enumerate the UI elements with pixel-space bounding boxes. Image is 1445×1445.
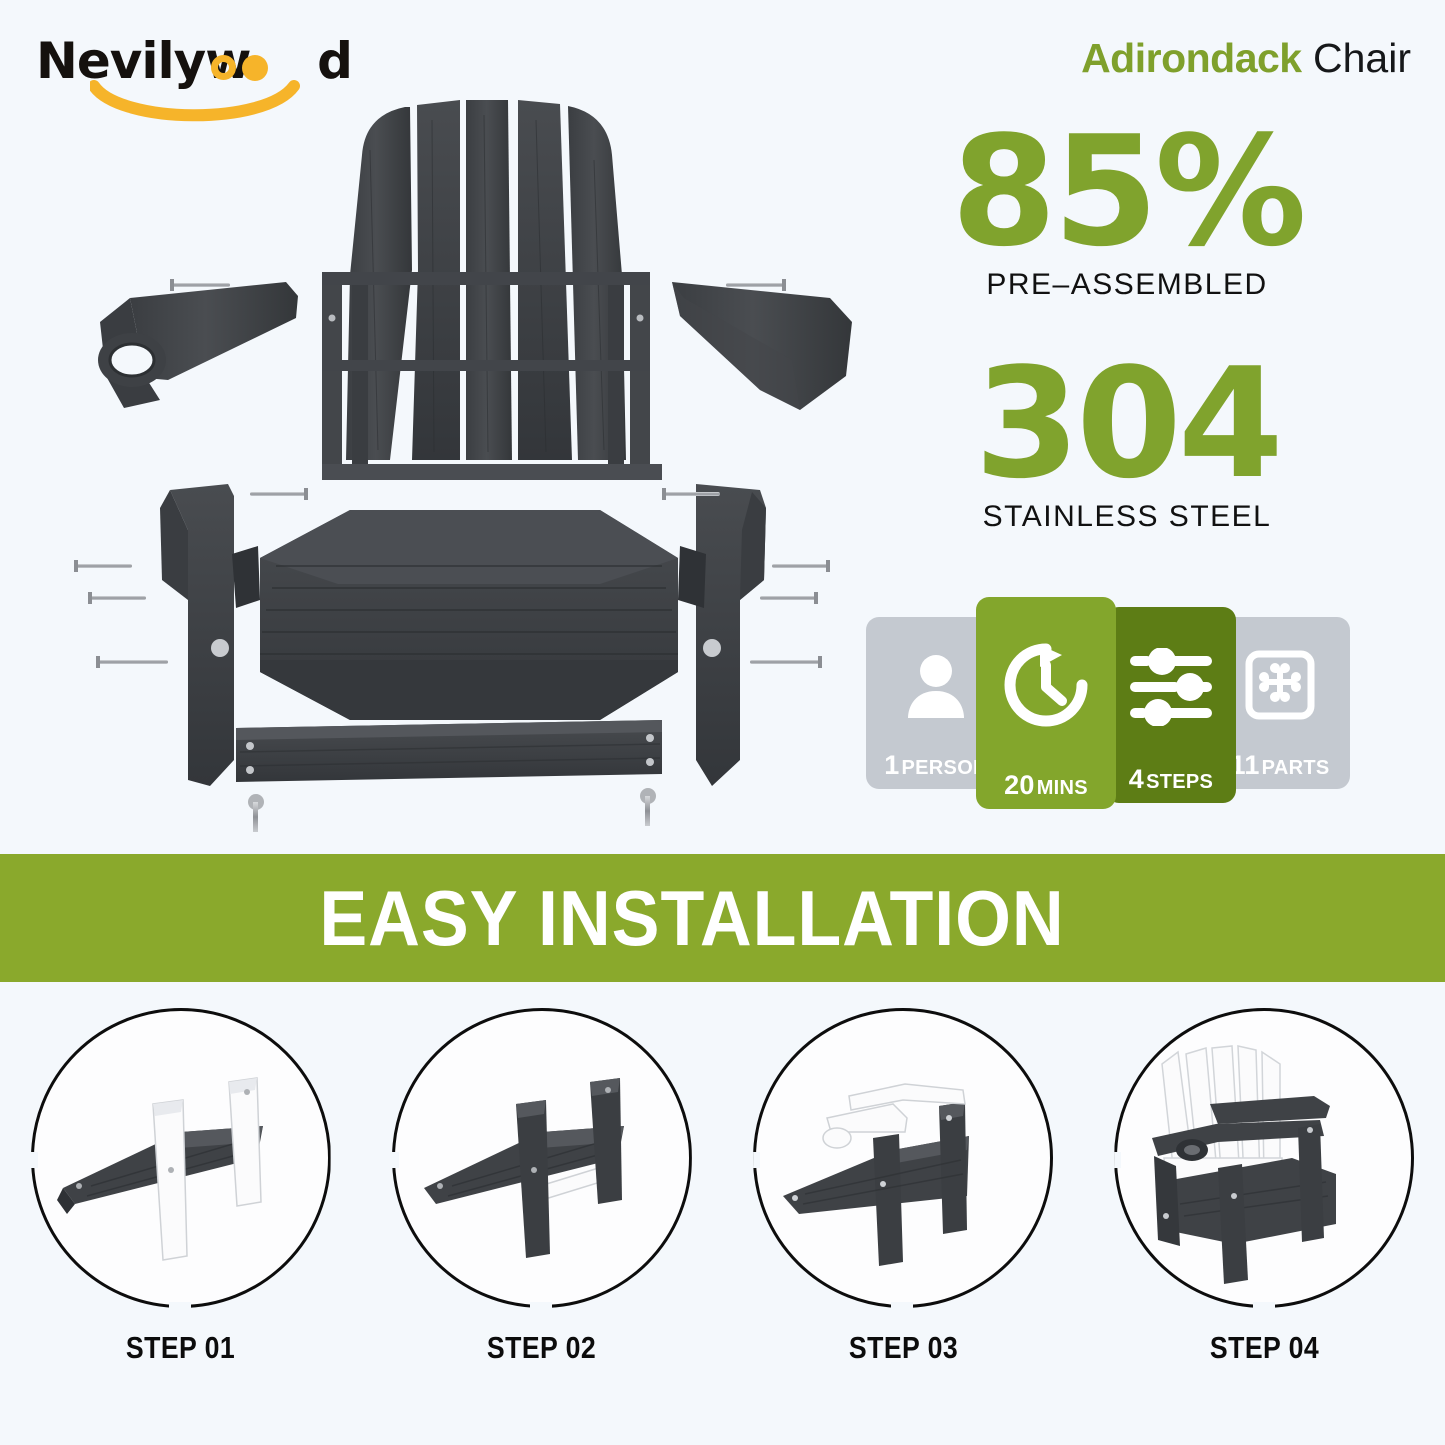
easy-installation-banner: EASY INSTALLATION xyxy=(0,854,1445,982)
stat-stainless-steel: 304 STAINLESS STEEL xyxy=(912,352,1342,534)
badge-time-label: 20MINS xyxy=(1004,772,1088,799)
badge-person-label: 1PERSON xyxy=(884,752,988,779)
step-3-illustration xyxy=(753,1008,1053,1308)
step-1-circle xyxy=(31,1008,331,1308)
step-4-circle xyxy=(1114,1008,1414,1308)
left-leg xyxy=(160,484,234,786)
step-2-label: STEP 02 xyxy=(487,1330,596,1366)
top-hero-section: Nevilywood Adirondack Chair 85% PRE–ASSE… xyxy=(0,0,1445,852)
seat-side-block-left xyxy=(232,546,260,608)
seat-side-block-right xyxy=(678,546,706,608)
badge-unit: STEPS xyxy=(1146,771,1213,793)
product-name-light: Chair xyxy=(1313,35,1411,81)
badge-unit: MINS xyxy=(1037,777,1088,799)
spec-badge-row: 1PERSON 20MINS xyxy=(866,597,1350,809)
step-4-label: STEP 04 xyxy=(1210,1330,1319,1366)
step-item-1: STEP 01 xyxy=(0,1000,361,1440)
sliders-icon xyxy=(1106,607,1236,766)
step-2-illustration xyxy=(392,1008,692,1308)
right-leg xyxy=(696,484,766,786)
badge-parts-label: 11PARTS xyxy=(1231,752,1330,779)
stat-value: 85% xyxy=(912,120,1342,264)
step-3-circle xyxy=(753,1008,1053,1308)
stat-value: 304 xyxy=(912,352,1342,496)
step-1-label: STEP 01 xyxy=(126,1330,235,1366)
badge-steps-label: 4STEPS xyxy=(1129,766,1213,793)
left-armrest-with-cup-holder xyxy=(98,282,298,408)
clock-icon xyxy=(976,597,1116,772)
bottom-stretcher-rail xyxy=(236,720,662,782)
badge-unit: PARTS xyxy=(1262,757,1330,779)
step-3-label: STEP 03 xyxy=(849,1330,958,1366)
step-1-illustration xyxy=(31,1008,331,1308)
exploded-parts-diagram xyxy=(60,60,860,840)
step-item-2: STEP 02 xyxy=(361,1000,722,1440)
installation-steps-row: STEP 01 STEP 02 xyxy=(0,1000,1445,1440)
badge-unit: PERSON xyxy=(902,757,988,779)
stat-pre-assembled: 85% PRE–ASSEMBLED xyxy=(912,120,1342,302)
seat-slat-panel xyxy=(260,510,678,720)
step-4-illustration xyxy=(1114,1008,1414,1308)
backrest-slat-assembly xyxy=(322,100,662,480)
badge-count: 20 xyxy=(1004,770,1035,800)
right-armrest xyxy=(672,282,852,410)
badge-count: 4 xyxy=(1129,764,1144,794)
step-item-3: STEP 03 xyxy=(723,1000,1084,1440)
product-name-strong: Adirondack xyxy=(1081,35,1302,81)
badge-steps: 4STEPS xyxy=(1106,607,1236,803)
banner-title: EASY INSTALLATION xyxy=(320,879,1065,957)
step-2-circle xyxy=(392,1008,692,1308)
step-item-4: STEP 04 xyxy=(1084,1000,1445,1440)
badge-time: 20MINS xyxy=(976,597,1116,809)
page-title: Adirondack Chair xyxy=(1081,38,1411,79)
badge-count: 1 xyxy=(884,750,899,780)
